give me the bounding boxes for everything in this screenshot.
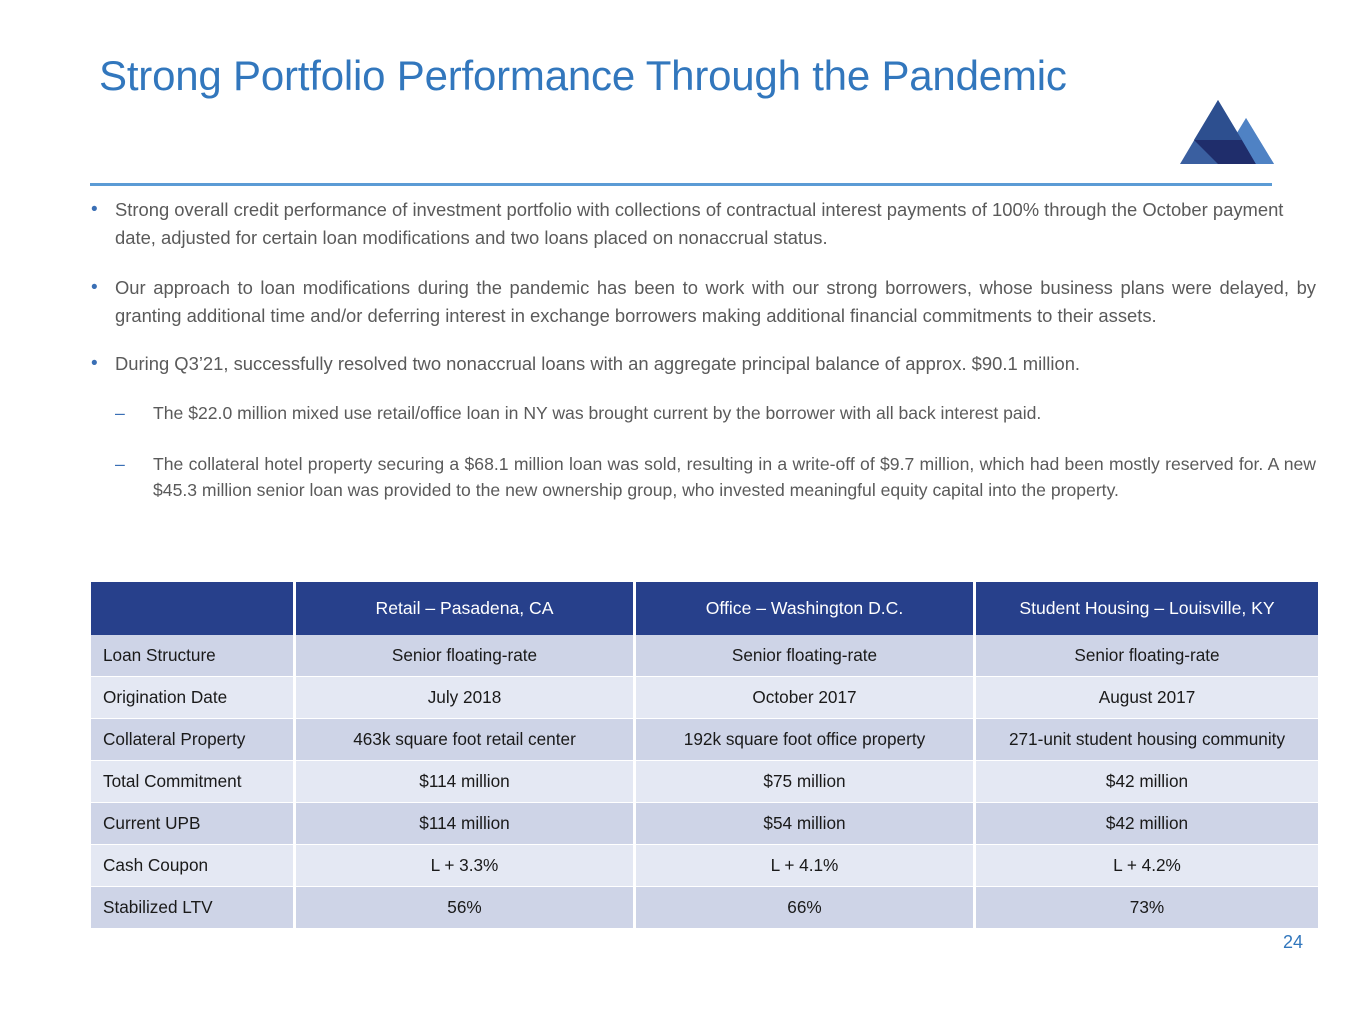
row-value: L + 3.3%	[296, 845, 636, 887]
bullet-item: • Our approach to loan modifications dur…	[88, 274, 1316, 330]
comparison-table: Retail – Pasadena, CA Office – Washingto…	[91, 582, 1318, 929]
bullet-item: • During Q3’21, successfully resolved tw…	[88, 350, 1316, 378]
row-value: $75 million	[636, 761, 976, 803]
bullet-item: • Strong overall credit performance of i…	[88, 196, 1316, 252]
sub-bullet-item: – The $22.0 million mixed use retail/off…	[115, 400, 1316, 427]
row-value: 73%	[976, 887, 1318, 929]
table-header-row: Retail – Pasadena, CA Office – Washingto…	[91, 582, 1318, 635]
table-row: Stabilized LTV 56% 66% 73%	[91, 887, 1318, 929]
body-content: • Strong overall credit performance of i…	[88, 196, 1316, 528]
row-value: 192k square foot office property	[636, 719, 976, 761]
sub-bullet-text: The $22.0 million mixed use retail/offic…	[153, 403, 1041, 423]
table-row: Loan Structure Senior floating-rate Seni…	[91, 635, 1318, 677]
table-row: Current UPB $114 million $54 million $42…	[91, 803, 1318, 845]
sub-bullet-item: – The collateral hotel property securing…	[115, 451, 1316, 504]
table-row: Cash Coupon L + 3.3% L + 4.1% L + 4.2%	[91, 845, 1318, 887]
dash-marker-icon: –	[115, 400, 125, 427]
row-value: August 2017	[976, 677, 1318, 719]
table-header-office: Office – Washington D.C.	[636, 582, 976, 635]
bullet-marker-icon: •	[91, 350, 98, 379]
sub-bullet-text: The collateral hotel property securing a…	[153, 454, 1316, 501]
title-divider	[90, 183, 1272, 186]
page-number: 24	[1283, 932, 1303, 953]
row-value: 66%	[636, 887, 976, 929]
row-value: 463k square foot retail center	[296, 719, 636, 761]
row-value: $114 million	[296, 761, 636, 803]
row-value: October 2017	[636, 677, 976, 719]
row-value: $114 million	[296, 803, 636, 845]
row-value: L + 4.2%	[976, 845, 1318, 887]
row-value: L + 4.1%	[636, 845, 976, 887]
bullet-text: During Q3’21, successfully resolved two …	[115, 353, 1080, 374]
row-label: Origination Date	[91, 677, 296, 719]
bullet-text: Our approach to loan modifications durin…	[115, 277, 1316, 326]
dash-marker-icon: –	[115, 451, 125, 478]
row-value: 271-unit student housing community	[976, 719, 1318, 761]
row-value: $42 million	[976, 761, 1318, 803]
table-row: Total Commitment $114 million $75 millio…	[91, 761, 1318, 803]
row-value: $42 million	[976, 803, 1318, 845]
mountain-logo	[1180, 96, 1276, 168]
table-header-blank	[91, 582, 296, 635]
row-value: Senior floating-rate	[976, 635, 1318, 677]
row-label: Loan Structure	[91, 635, 296, 677]
row-label: Total Commitment	[91, 761, 296, 803]
row-label: Collateral Property	[91, 719, 296, 761]
table-body: Loan Structure Senior floating-rate Seni…	[91, 635, 1318, 929]
row-value: Senior floating-rate	[636, 635, 976, 677]
row-value: July 2018	[296, 677, 636, 719]
bullet-text: Strong overall credit performance of inv…	[115, 199, 1283, 248]
page-title: Strong Portfolio Performance Through the…	[99, 50, 1099, 101]
row-value: $54 million	[636, 803, 976, 845]
table-row: Collateral Property 463k square foot ret…	[91, 719, 1318, 761]
bullet-marker-icon: •	[91, 196, 98, 225]
table-header-student-housing: Student Housing – Louisville, KY	[976, 582, 1318, 635]
bullet-marker-icon: •	[91, 274, 98, 303]
row-value: Senior floating-rate	[296, 635, 636, 677]
row-label: Cash Coupon	[91, 845, 296, 887]
row-value: 56%	[296, 887, 636, 929]
row-label: Stabilized LTV	[91, 887, 296, 929]
row-label: Current UPB	[91, 803, 296, 845]
table-header-retail: Retail – Pasadena, CA	[296, 582, 636, 635]
table-row: Origination Date July 2018 October 2017 …	[91, 677, 1318, 719]
table-header: Retail – Pasadena, CA Office – Washingto…	[91, 582, 1318, 635]
